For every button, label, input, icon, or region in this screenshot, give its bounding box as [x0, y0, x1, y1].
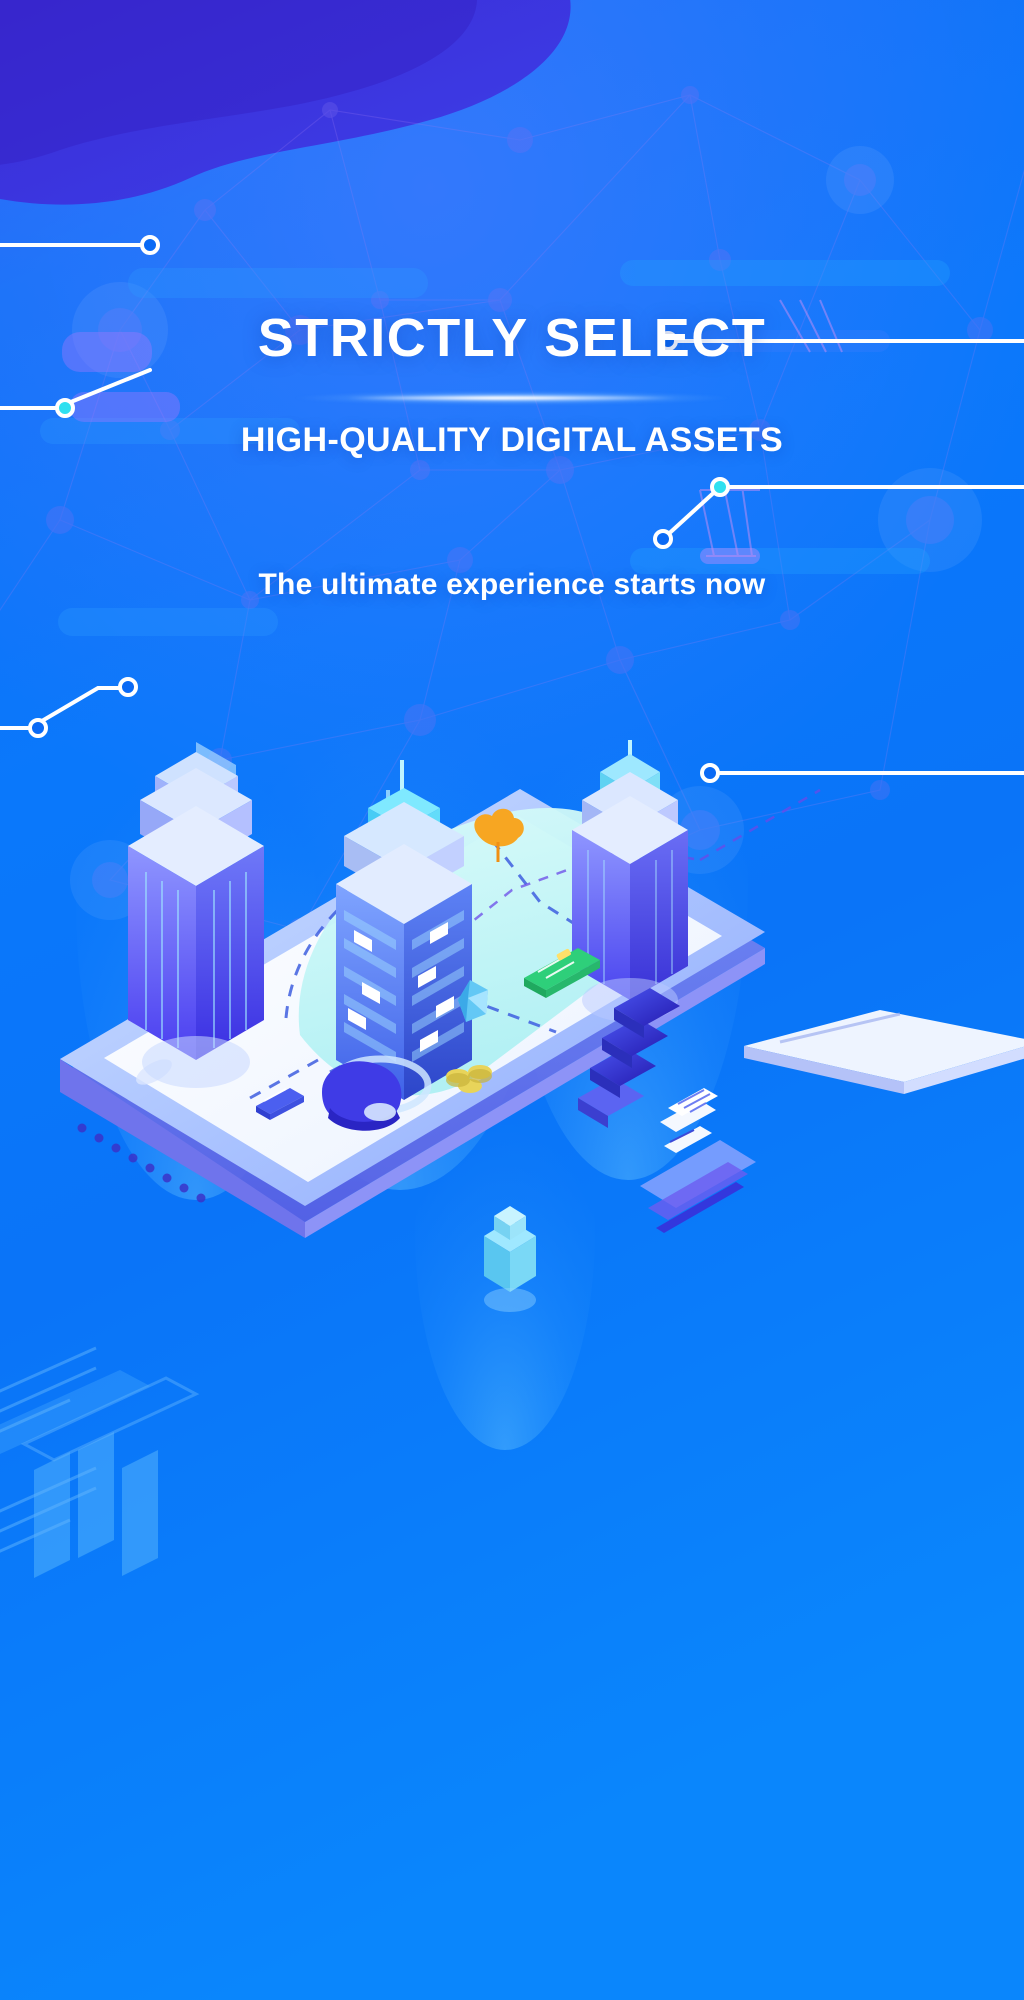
promo-banner: STRICTLY SELECT HIGH-QUALITY DIGITAL ASS…: [0, 0, 1024, 2000]
floating-card-right: [744, 1010, 1024, 1094]
data-pillar: [484, 1206, 536, 1312]
isometric-smart-city-illustration: [0, 0, 1024, 2000]
layered-panel: [640, 1140, 756, 1233]
ui-bar-chart-panel: [0, 1348, 196, 1578]
document-card: [660, 1088, 718, 1153]
tower-center: [336, 760, 472, 1100]
